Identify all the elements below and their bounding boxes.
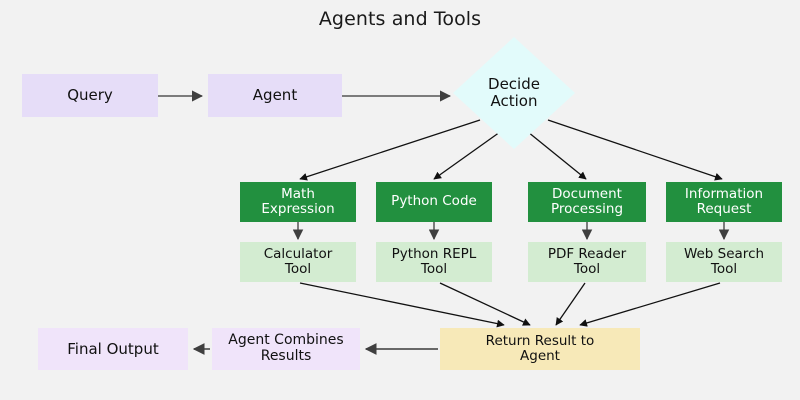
node-calculator-tool[interactable]: Calculator Tool — [240, 242, 356, 282]
node-return-result-to-agent-label: Return Result to Agent — [486, 334, 595, 364]
node-python-code-label: Python Code — [391, 194, 477, 209]
edge-decide-pycode — [434, 132, 500, 179]
node-python-repl-tool-label: Python REPL Tool — [392, 247, 477, 277]
node-decide-action-label: Decide Action — [488, 76, 540, 110]
diagram-canvas: Agents and Tools — [0, 0, 800, 400]
edge-calc-return — [300, 283, 504, 325]
node-agent[interactable]: Agent — [208, 74, 342, 117]
edge-repl-return — [440, 283, 530, 325]
node-information-request[interactable]: Information Request — [666, 182, 782, 222]
node-query[interactable]: Query — [22, 74, 158, 117]
edge-websearch-return — [580, 283, 720, 325]
node-pdf-reader-tool[interactable]: PDF Reader Tool — [528, 242, 646, 282]
node-return-result-to-agent[interactable]: Return Result to Agent — [440, 328, 640, 370]
node-agent-combines-results[interactable]: Agent Combines Results — [212, 328, 360, 370]
node-pdf-reader-tool-label: PDF Reader Tool — [548, 247, 626, 277]
node-math-expression-label: Math Expression — [261, 187, 334, 217]
node-python-repl-tool[interactable]: Python REPL Tool — [376, 242, 492, 282]
node-final-output[interactable]: Final Output — [38, 328, 188, 370]
node-agent-combines-results-label: Agent Combines Results — [228, 333, 343, 364]
node-web-search-tool[interactable]: Web Search Tool — [666, 242, 782, 282]
node-final-output-label: Final Output — [67, 341, 158, 358]
edge-decide-docproc — [528, 132, 586, 179]
node-information-request-label: Information Request — [685, 187, 763, 217]
node-web-search-tool-label: Web Search Tool — [684, 247, 764, 277]
edge-pdf-return — [556, 283, 585, 325]
node-document-processing-label: Document Processing — [551, 187, 623, 217]
node-document-processing[interactable]: Document Processing — [528, 182, 646, 222]
node-calculator-tool-label: Calculator Tool — [264, 247, 333, 277]
node-query-label: Query — [67, 87, 113, 104]
edge-decide-math — [300, 120, 480, 179]
node-agent-label: Agent — [253, 87, 297, 104]
node-math-expression[interactable]: Math Expression — [240, 182, 356, 222]
node-python-code[interactable]: Python Code — [376, 182, 492, 222]
